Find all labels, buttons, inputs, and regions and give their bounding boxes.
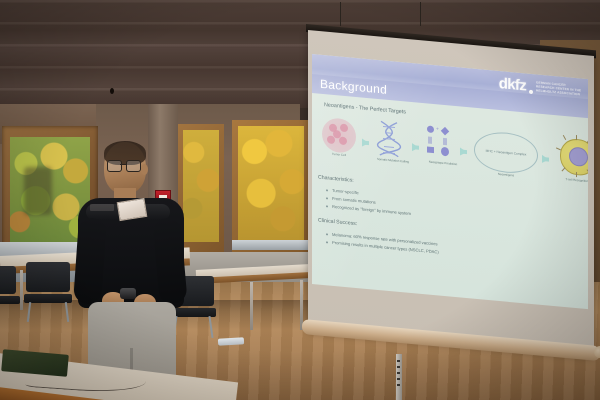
flow-step-neoantigens: MHC + Neoantigen Complex Neoantigens xyxy=(474,130,538,180)
flow-step-tcell: T-cell Recognition xyxy=(556,134,588,184)
slide: dkfz German Cancer Research Center in th… xyxy=(312,54,588,309)
presenter-remote-icon[interactable] xyxy=(120,288,136,299)
flow-step-tumor-cell: Tumor Cell xyxy=(322,117,356,159)
glasses-bridge xyxy=(120,164,126,165)
flow-label: T-cell Recognition xyxy=(560,178,588,185)
chair-back xyxy=(0,266,16,294)
table-leg xyxy=(20,270,23,310)
mhc-complex-icon: MHC + Neoantigen Complex xyxy=(474,130,538,176)
presenter xyxy=(72,142,190,400)
flow-arrow-icon xyxy=(412,143,419,152)
chair-seat xyxy=(0,296,20,304)
glasses-lens-right xyxy=(126,160,141,172)
chair[interactable] xyxy=(24,262,72,320)
t-cell-icon xyxy=(556,134,588,180)
mhc-complex-label: MHC + Neoantigen Complex xyxy=(486,148,527,156)
ceiling-fixture xyxy=(110,88,114,94)
chair-leg xyxy=(208,316,213,338)
flow-label: Neoepitope Prediction xyxy=(426,160,460,167)
chair[interactable] xyxy=(0,266,20,322)
bullet-list-characteristics: Tumor-specific From somatic mutations Re… xyxy=(326,186,411,217)
flow-label: Tumor Cell xyxy=(322,152,356,159)
section-heading-characteristics: Characteristics: xyxy=(318,175,354,184)
flow-label: Somatic Mutation Calling xyxy=(376,158,410,165)
glasses-icon xyxy=(107,160,141,171)
flow-step-somatic-mutation: Somatic Mutation Calling xyxy=(376,119,410,165)
window-foliage-right-2 xyxy=(238,126,304,242)
dkfz-wordmark: dkfz xyxy=(499,75,526,92)
flow-arrow-icon xyxy=(362,139,369,148)
screen-hanging-wire xyxy=(420,2,421,26)
presenter-ear xyxy=(141,164,148,175)
chair-leg xyxy=(65,302,69,322)
post-adjustment-holes xyxy=(397,360,400,390)
projection-screen: dkfz German Cancer Research Center in th… xyxy=(300,24,600,400)
chair-back xyxy=(26,262,70,292)
sweater-chest-print xyxy=(90,204,114,211)
dna-helix-icon xyxy=(376,119,402,159)
flow-arrow-icon xyxy=(460,147,467,156)
flow-diagram: Tumor Cell xyxy=(320,113,582,193)
tumor-cell-icon xyxy=(322,117,356,154)
flow-label: Neoantigens xyxy=(489,172,523,179)
screen-hanging-wire xyxy=(340,2,341,26)
screen-pull-knob-icon[interactable] xyxy=(594,346,600,358)
table-leg xyxy=(250,282,253,330)
presentation-photo: dkfz German Cancer Research Center in th… xyxy=(0,0,600,400)
flow-arrow-icon xyxy=(542,155,549,164)
peptide-icon: + xyxy=(426,125,452,161)
section-heading-clinical-success: Clinical Success: xyxy=(318,218,357,228)
floor-object xyxy=(218,337,244,345)
glasses-lens-left xyxy=(107,160,122,172)
bullet-list-clinical-success: Melanoma: 60% response rate with persona… xyxy=(326,230,439,256)
flow-step-neoepitope: + Neoepitope Prediction xyxy=(426,125,460,167)
chair-leg xyxy=(27,302,31,322)
